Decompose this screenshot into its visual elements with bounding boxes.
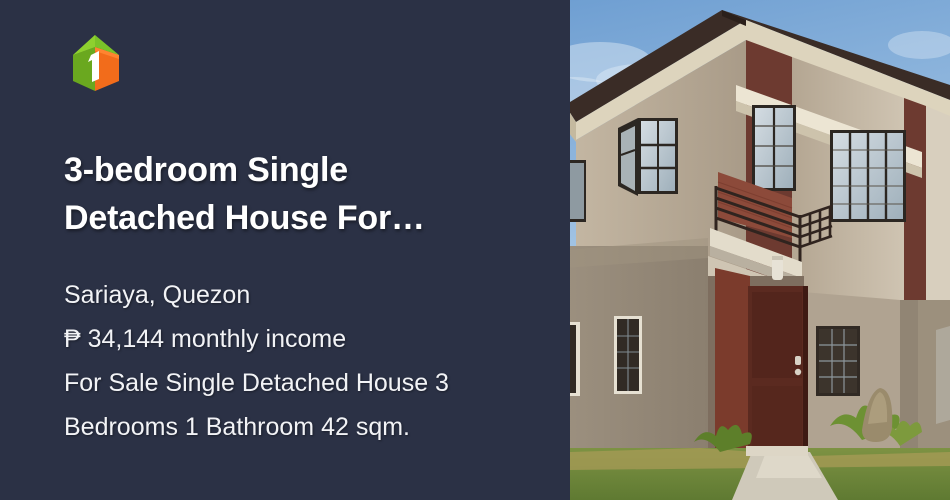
house-logo[interactable] xyxy=(64,33,126,95)
property-listing-card: 3-bedroom Single Detached House For… Sar… xyxy=(0,0,950,500)
listing-description: For Sale Single Detached House 3 Bedroom… xyxy=(64,361,544,449)
listing-details: Sariaya, Quezon ₱ 34,144 monthly income … xyxy=(64,273,544,449)
page-title: 3-bedroom Single Detached House For… xyxy=(64,146,524,242)
listing-price: ₱ 34,144 monthly income xyxy=(64,317,544,361)
property-photo xyxy=(570,0,950,500)
listing-info-panel: 3-bedroom Single Detached House For… Sar… xyxy=(0,0,570,500)
listing-location: Sariaya, Quezon xyxy=(64,273,544,317)
